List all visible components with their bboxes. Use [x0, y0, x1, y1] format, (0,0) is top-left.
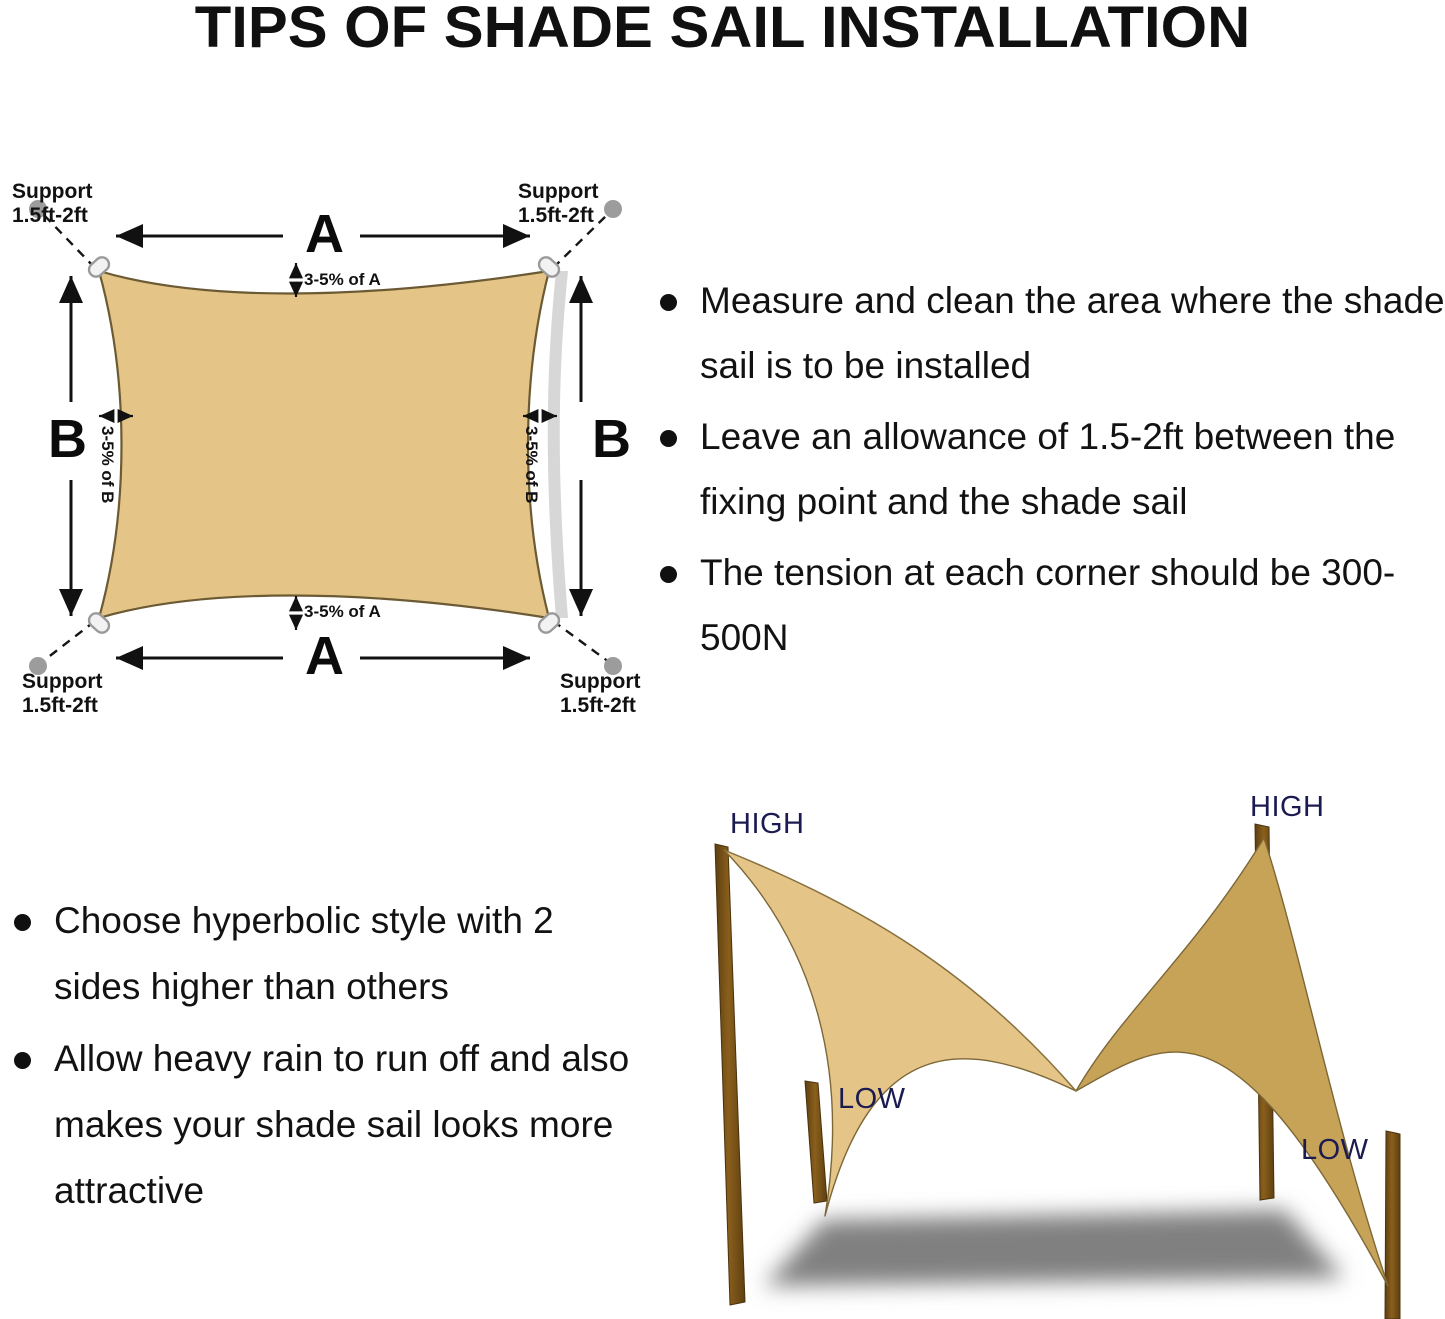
- list-item-text: Allow heavy rain to run off and also mak…: [54, 1038, 629, 1211]
- support-label-line1: Support: [560, 670, 640, 693]
- hyperbolic-sail-svg: [672, 786, 1445, 1319]
- list-item-text: Choose hyperbolic style with 2 sides hig…: [54, 900, 554, 1007]
- bullet-dot-icon: [660, 566, 677, 583]
- support-label-line2: 1.5ft-2ft: [518, 204, 598, 228]
- sail-front: [724, 850, 1076, 1216]
- dimension-letter-top-a: A: [305, 207, 344, 261]
- tolerance-label-top-a: 3-5% of A: [304, 270, 381, 290]
- support-label-line2: 1.5ft-2ft: [12, 204, 92, 228]
- list-item: Leave an allowance of 1.5-2ft between th…: [652, 404, 1445, 534]
- post-far-left: [715, 844, 745, 1305]
- sail-edge-shadow: [548, 271, 568, 618]
- support-label-line1: Support: [518, 180, 598, 203]
- page-title: TIPS OF SHADE SAIL INSTALLATION: [0, 0, 1445, 59]
- support-label-line2: 1.5ft-2ft: [560, 694, 640, 718]
- bullet-dot-icon: [660, 294, 677, 311]
- support-label-line1: Support: [12, 180, 92, 203]
- list-item-text: The tension at each corner should be 300…: [700, 552, 1395, 658]
- label-low-left: LOW: [838, 1085, 906, 1114]
- rectangular-sail-diagram: Support 1.5ft-2ft Support 1.5ft-2ft Supp…: [0, 150, 660, 740]
- tips-list-left: Choose hyperbolic style with 2 sides hig…: [6, 888, 636, 1230]
- list-item-text: Leave an allowance of 1.5-2ft between th…: [700, 416, 1395, 522]
- support-label-line2: 1.5ft-2ft: [22, 694, 102, 718]
- support-label-top-right: Support 1.5ft-2ft: [518, 180, 598, 228]
- post-far-right-low: [1385, 1131, 1400, 1319]
- ground-shadow: [764, 1210, 1344, 1286]
- post-left-low: [805, 1081, 827, 1203]
- list-item: Allow heavy rain to run off and also mak…: [6, 1026, 636, 1224]
- bullet-dot-icon: [14, 914, 31, 931]
- list-item: Measure and clean the area where the sha…: [652, 268, 1445, 398]
- list-item-text: Measure and clean the area where the sha…: [700, 280, 1445, 386]
- tips-list-right: Measure and clean the area where the sha…: [652, 268, 1445, 676]
- support-label-line1: Support: [22, 670, 102, 693]
- tolerance-label-left-b: 3-5% of B: [97, 426, 117, 503]
- support-label-bottom-left: Support 1.5ft-2ft: [22, 670, 102, 718]
- bullet-dot-icon: [14, 1052, 31, 1069]
- dimension-letter-left-b: B: [48, 412, 87, 466]
- dimension-letter-bottom-a: A: [305, 629, 344, 683]
- dimension-letter-right-b: B: [592, 412, 631, 466]
- bullet-dot-icon: [660, 430, 677, 447]
- sail-body: [99, 271, 549, 618]
- list-item: Choose hyperbolic style with 2 sides hig…: [6, 888, 636, 1020]
- tolerance-label-bottom-a: 3-5% of A: [304, 602, 381, 622]
- tolerance-label-right-b: 3-5% of B: [521, 426, 541, 503]
- label-low-right: LOW: [1301, 1136, 1369, 1165]
- list-item: The tension at each corner should be 300…: [652, 540, 1445, 670]
- label-high-left: HIGH: [730, 810, 805, 839]
- hyperbolic-sail-illustration: HIGH HIGH LOW LOW: [672, 786, 1445, 1319]
- label-high-right: HIGH: [1250, 793, 1325, 822]
- support-label-top-left: Support 1.5ft-2ft: [12, 180, 92, 228]
- support-label-bottom-right: Support 1.5ft-2ft: [560, 670, 640, 718]
